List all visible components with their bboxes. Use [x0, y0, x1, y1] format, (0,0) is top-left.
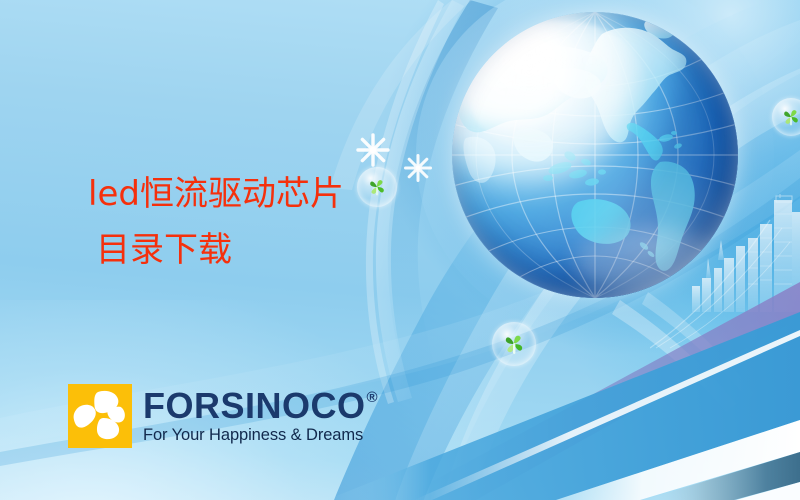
brand-logo: FORSINOCO ® For Your Happiness & Dreams — [68, 384, 378, 448]
brand-name-text: FORSINOCO — [143, 388, 366, 424]
registered-trademark-icon: ® — [367, 390, 379, 405]
logo-mark-icon — [68, 384, 132, 448]
brand-tagline: For Your Happiness & Dreams — [143, 426, 363, 445]
banner-image: led恒流驱动芯片 目录下载 FORSINOCO ® For Your Happ… — [0, 0, 800, 500]
flower-petals-icon — [68, 384, 132, 448]
headline-line-2: 目录下载 — [0, 222, 400, 278]
brand-name: FORSINOCO ® — [143, 388, 378, 424]
logo-text-block: FORSINOCO ® For Your Happiness & Dreams — [143, 388, 378, 445]
headline-line-1: led恒流驱动芯片 — [0, 166, 400, 222]
page-title: led恒流驱动芯片 目录下载 — [0, 166, 400, 278]
